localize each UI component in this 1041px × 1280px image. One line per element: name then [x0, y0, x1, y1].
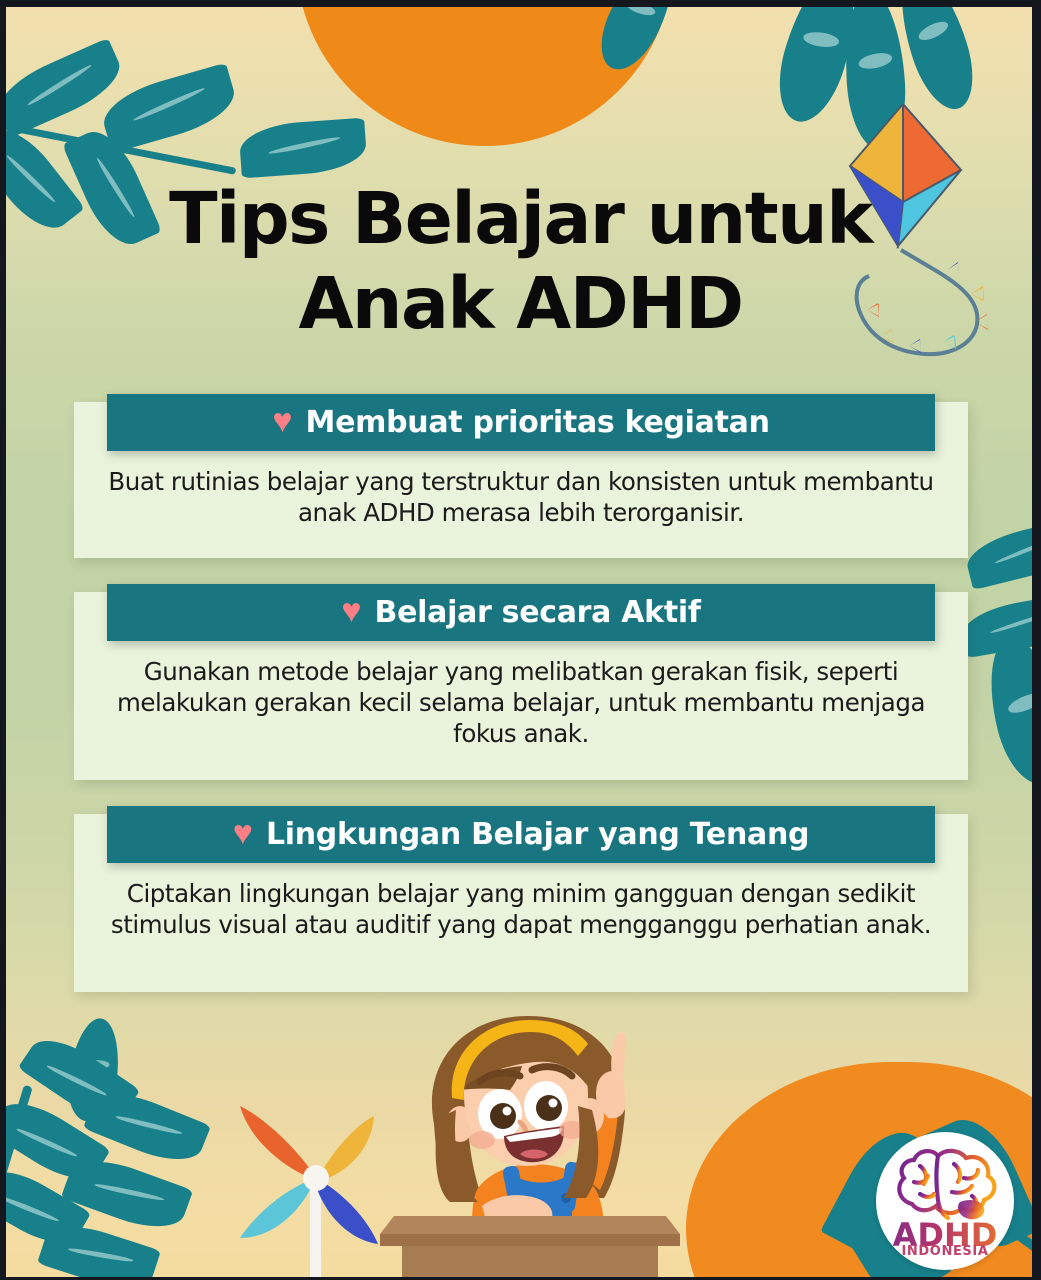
frame-edge-right — [1032, 0, 1041, 1280]
girl-illustration — [386, 1006, 676, 1241]
pinwheel-hub — [303, 1165, 329, 1191]
tip-card-3-text: Ciptakan lingkungan belajar yang minim g… — [74, 878, 968, 940]
girl-eye-highlight-left — [503, 1107, 512, 1116]
tip-card-2-header: ♥ Belajar secara Aktif — [107, 584, 935, 641]
desk-edge — [380, 1234, 680, 1246]
tip-card-1-text: Buat rutinias belajar yang terstruktur d… — [74, 466, 968, 528]
tip-card-1: ♥ Membuat prioritas kegiatan Buat rutini… — [74, 394, 968, 558]
logo-indonesia-text: INDONESIA — [876, 1244, 1014, 1259]
pinwheel-blade-yellow — [320, 1116, 374, 1180]
heart-icon: ♥ — [341, 594, 361, 628]
kite-tail-string — [857, 250, 978, 354]
kite-body — [850, 104, 961, 246]
pinwheel-blade-cyan — [240, 1180, 312, 1238]
infographic-poster: Tips Belajar untuk Anak ADHD ♥ Membuat p… — [0, 0, 1041, 1280]
kite-illustration — [845, 104, 1041, 380]
desk-front — [402, 1246, 658, 1280]
tip-card-3-title: Lingkungan Belajar yang Tenang — [266, 818, 809, 852]
tip-card-3-header: ♥ Lingkungan Belajar yang Tenang — [107, 806, 935, 863]
girl-pupil-right — [536, 1095, 562, 1121]
heart-icon: ♥ — [272, 404, 292, 438]
tip-card-1-header: ♥ Membuat prioritas kegiatan — [107, 394, 935, 451]
heart-icon: ♥ — [233, 816, 253, 850]
adhd-indonesia-logo[interactable]: ADHD INDONESIA — [876, 1132, 1014, 1270]
desk-top — [380, 1216, 680, 1234]
desk-illustration — [380, 1216, 680, 1280]
frame-edge-left — [0, 0, 6, 1280]
tip-card-3: ♥ Lingkungan Belajar yang Tenang Ciptaka… — [74, 806, 968, 992]
tip-card-2-title: Belajar secara Aktif — [375, 596, 701, 630]
tip-card-2: ♥ Belajar secara Aktif Gunakan metode be… — [74, 584, 968, 780]
tip-card-2-text: Gunakan metode belajar yang melibatkan g… — [74, 656, 968, 749]
girl-eye-highlight-right — [549, 1099, 558, 1108]
pinwheel-blade-blue — [316, 1180, 378, 1244]
girl-index-finger — [611, 1033, 626, 1080]
frame-edge-top — [0, 0, 1041, 7]
girl-pupil-left — [490, 1103, 516, 1129]
girl-cheek-left — [469, 1131, 495, 1149]
tip-card-1-title: Membuat prioritas kegiatan — [306, 406, 770, 440]
pinwheel-blade-orange — [240, 1106, 314, 1178]
